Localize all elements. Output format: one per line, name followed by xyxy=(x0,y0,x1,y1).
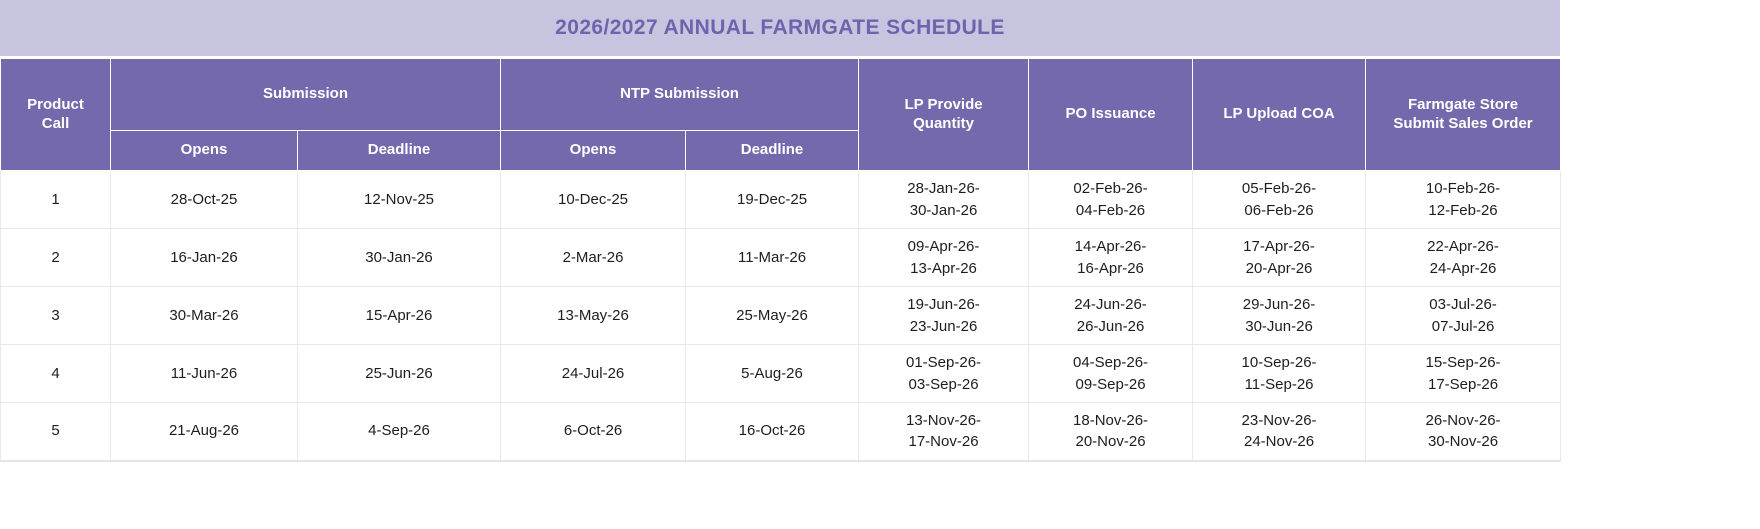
cell-ntp-deadline: 25-May-26 xyxy=(686,287,859,345)
cell-submission-opens: 11-Jun-26 xyxy=(111,345,298,403)
schedule-table: Product Call Submission NTP Submission L… xyxy=(0,58,1561,462)
product-call-line-1: Product xyxy=(27,96,84,113)
column-header-lp-upload-coa: LP Upload COA xyxy=(1193,59,1366,171)
header-row-group: Product Call Submission NTP Submission L… xyxy=(1,59,1561,131)
column-header-submission-deadline: Deadline xyxy=(298,131,501,171)
cell-po-issuance: 24-Jun-26- 26-Jun-26 xyxy=(1029,287,1193,345)
product-call-line-2: Call xyxy=(42,115,70,132)
cell-po-issuance: 18-Nov-26- 20-Nov-26 xyxy=(1029,403,1193,461)
cell-ntp-opens: 24-Jul-26 xyxy=(501,345,686,403)
table-row: 2 16-Jan-26 30-Jan-26 2-Mar-26 11-Mar-26… xyxy=(1,229,1561,287)
cell-product-call: 2 xyxy=(1,229,111,287)
table-row: 4 11-Jun-26 25-Jun-26 24-Jul-26 5-Aug-26… xyxy=(1,345,1561,403)
cell-submission-deadline: 12-Nov-25 xyxy=(298,171,501,229)
table-row: 5 21-Aug-26 4-Sep-26 6-Oct-26 16-Oct-26 … xyxy=(1,403,1561,461)
column-header-ntp-opens: Opens xyxy=(501,131,686,171)
lp-provide-quantity-line-1: LP Provide xyxy=(904,96,982,113)
cell-ntp-deadline: 16-Oct-26 xyxy=(686,403,859,461)
table-body: 1 28-Oct-25 12-Nov-25 10-Dec-25 19-Dec-2… xyxy=(1,171,1561,461)
cell-lp-upload-coa: 05-Feb-26- 06-Feb-26 xyxy=(1193,171,1366,229)
column-header-ntp-deadline: Deadline xyxy=(686,131,859,171)
cell-lp-provide-quantity: 09-Apr-26- 13-Apr-26 xyxy=(859,229,1029,287)
cell-lp-upload-coa: 10-Sep-26- 11-Sep-26 xyxy=(1193,345,1366,403)
column-header-ntp-submission: NTP Submission xyxy=(501,59,859,131)
cell-lp-provide-quantity: 19-Jun-26- 23-Jun-26 xyxy=(859,287,1029,345)
lp-provide-quantity-line-2: Quantity xyxy=(913,115,974,132)
cell-submission-opens: 28-Oct-25 xyxy=(111,171,298,229)
table-row: 1 28-Oct-25 12-Nov-25 10-Dec-25 19-Dec-2… xyxy=(1,171,1561,229)
cell-lp-upload-coa: 23-Nov-26- 24-Nov-26 xyxy=(1193,403,1366,461)
cell-farmgate-store: 26-Nov-26- 30-Nov-26 xyxy=(1366,403,1561,461)
cell-po-issuance: 02-Feb-26- 04-Feb-26 xyxy=(1029,171,1193,229)
cell-submission-deadline: 15-Apr-26 xyxy=(298,287,501,345)
column-header-submission-opens: Opens xyxy=(111,131,298,171)
column-header-product-call: Product Call xyxy=(1,59,111,171)
cell-lp-upload-coa: 17-Apr-26- 20-Apr-26 xyxy=(1193,229,1366,287)
page-title: 2026/2027 ANNUAL FARMGATE SCHEDULE xyxy=(555,16,1005,40)
farmgate-schedule: 2026/2027 ANNUAL FARMGATE SCHEDULE Produ… xyxy=(0,0,1560,462)
cell-ntp-deadline: 5-Aug-26 xyxy=(686,345,859,403)
column-header-submission: Submission xyxy=(111,59,501,131)
cell-ntp-deadline: 11-Mar-26 xyxy=(686,229,859,287)
cell-farmgate-store: 10-Feb-26- 12-Feb-26 xyxy=(1366,171,1561,229)
schedule-title-bar: 2026/2027 ANNUAL FARMGATE SCHEDULE xyxy=(0,0,1560,58)
cell-farmgate-store: 03-Jul-26- 07-Jul-26 xyxy=(1366,287,1561,345)
cell-submission-deadline: 4-Sep-26 xyxy=(298,403,501,461)
column-header-po-issuance: PO Issuance xyxy=(1029,59,1193,171)
cell-ntp-opens: 2-Mar-26 xyxy=(501,229,686,287)
table-head: Product Call Submission NTP Submission L… xyxy=(1,59,1561,171)
cell-submission-deadline: 30-Jan-26 xyxy=(298,229,501,287)
table-row: 3 30-Mar-26 15-Apr-26 13-May-26 25-May-2… xyxy=(1,287,1561,345)
cell-lp-upload-coa: 29-Jun-26- 30-Jun-26 xyxy=(1193,287,1366,345)
column-header-farmgate-store-submit-sales-order: Farmgate Store Submit Sales Order xyxy=(1366,59,1561,171)
farmgate-store-line-2: Submit Sales Order xyxy=(1393,115,1532,132)
cell-ntp-deadline: 19-Dec-25 xyxy=(686,171,859,229)
cell-submission-deadline: 25-Jun-26 xyxy=(298,345,501,403)
cell-submission-opens: 16-Jan-26 xyxy=(111,229,298,287)
cell-po-issuance: 14-Apr-26- 16-Apr-26 xyxy=(1029,229,1193,287)
cell-product-call: 4 xyxy=(1,345,111,403)
cell-farmgate-store: 15-Sep-26- 17-Sep-26 xyxy=(1366,345,1561,403)
cell-submission-opens: 21-Aug-26 xyxy=(111,403,298,461)
cell-farmgate-store: 22-Apr-26- 24-Apr-26 xyxy=(1366,229,1561,287)
cell-lp-provide-quantity: 01-Sep-26- 03-Sep-26 xyxy=(859,345,1029,403)
cell-lp-provide-quantity: 13-Nov-26- 17-Nov-26 xyxy=(859,403,1029,461)
cell-product-call: 3 xyxy=(1,287,111,345)
column-header-lp-provide-quantity: LP Provide Quantity xyxy=(859,59,1029,171)
farmgate-store-line-1: Farmgate Store xyxy=(1408,96,1518,113)
cell-po-issuance: 04-Sep-26- 09-Sep-26 xyxy=(1029,345,1193,403)
cell-product-call: 1 xyxy=(1,171,111,229)
cell-ntp-opens: 6-Oct-26 xyxy=(501,403,686,461)
cell-submission-opens: 30-Mar-26 xyxy=(111,287,298,345)
cell-lp-provide-quantity: 28-Jan-26- 30-Jan-26 xyxy=(859,171,1029,229)
cell-ntp-opens: 13-May-26 xyxy=(501,287,686,345)
cell-product-call: 5 xyxy=(1,403,111,461)
cell-ntp-opens: 10-Dec-25 xyxy=(501,171,686,229)
